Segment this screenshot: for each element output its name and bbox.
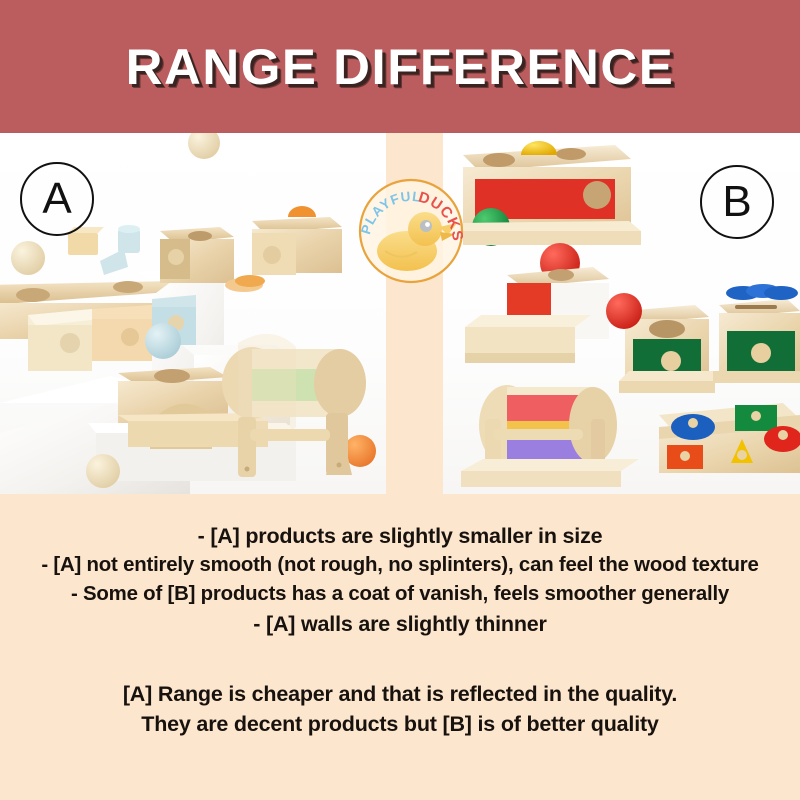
comparison-photo-strip: A xyxy=(0,133,800,494)
panel-b-badge-label: B xyxy=(722,180,751,224)
closing-statement: [A] Range is cheaper and that is reflect… xyxy=(20,679,780,740)
panel-a-badge: A xyxy=(20,162,94,236)
closing-line: [A] Range is cheaper and that is reflect… xyxy=(20,679,780,710)
closing-line: They are decent products but [B] is of b… xyxy=(20,709,780,740)
panel-a-badge-label: A xyxy=(42,177,71,221)
bullet-item: - [A] not entirely smooth (not rough, no… xyxy=(20,552,780,579)
playful-ducks-logo: PLAYFUL DUCKS xyxy=(357,177,465,285)
bullet-item: - [A] products are slightly smaller in s… xyxy=(20,522,780,550)
product-photo-panel-a: A xyxy=(0,133,386,494)
bullet-item: - Some of [B] products has a coat of van… xyxy=(20,581,780,608)
infographic-page: RANGE DIFFERENCE xyxy=(0,0,800,800)
header-banner: RANGE DIFFERENCE xyxy=(0,0,800,133)
bullet-list: - [A] products are slightly smaller in s… xyxy=(20,522,780,641)
logo-graphic: PLAYFUL DUCKS xyxy=(357,177,465,285)
description-section: - [A] products are slightly smaller in s… xyxy=(0,494,800,800)
bullet-item: - [A] walls are slightly thinner xyxy=(20,610,780,638)
product-photo-panel-b: B xyxy=(443,133,800,494)
panel-b-badge: B xyxy=(700,165,774,239)
page-title: RANGE DIFFERENCE xyxy=(126,38,675,96)
